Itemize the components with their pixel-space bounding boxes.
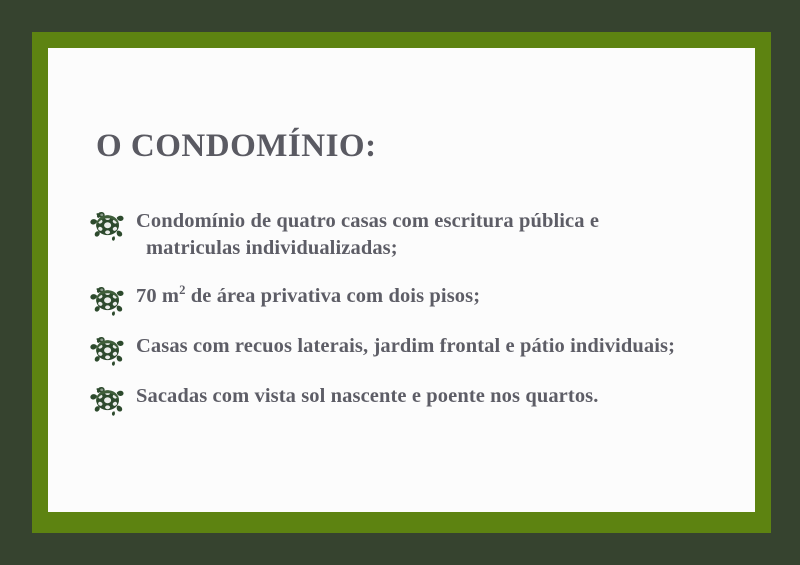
list-item: 70 m2 de área privativa com dois pisos; [88,283,748,317]
turtle-icon [90,384,126,416]
list-item-area-prefix: 70 m [136,285,179,307]
list-item-line-2: matriculas individualizadas; [136,235,748,262]
turtle-icon [90,209,126,241]
olive-frame-border: O CONDOMÍNIO: [32,32,771,533]
list-item: Casas com recuos laterais, jardim fronta… [88,333,748,367]
page-title: O CONDOMÍNIO: [96,130,377,163]
list-item-label: Casas com recuos laterais, jardim fronta… [136,333,748,360]
list-item: Condomínio de quatro casas com escritura… [88,208,748,262]
turtle-icon [90,284,126,316]
list-item-label: 70 m2 de área privativa com dois pisos; [136,283,748,310]
list-item-label: Sacadas com vista sol nascente e poente … [136,383,748,410]
list-item-line-1: Condomínio de quatro casas com escritura… [136,210,599,232]
turtle-icon [90,334,126,366]
feature-bullet-list: Condomínio de quatro casas com escritura… [88,208,748,433]
list-item: Sacadas com vista sol nascente e poente … [88,383,748,417]
slide-canvas: O CONDOMÍNIO: [0,0,800,565]
content-card: O CONDOMÍNIO: [48,48,755,512]
list-item-label: Condomínio de quatro casas com escritura… [136,208,748,262]
list-item-area-suffix: de área privativa com dois pisos; [186,285,481,307]
